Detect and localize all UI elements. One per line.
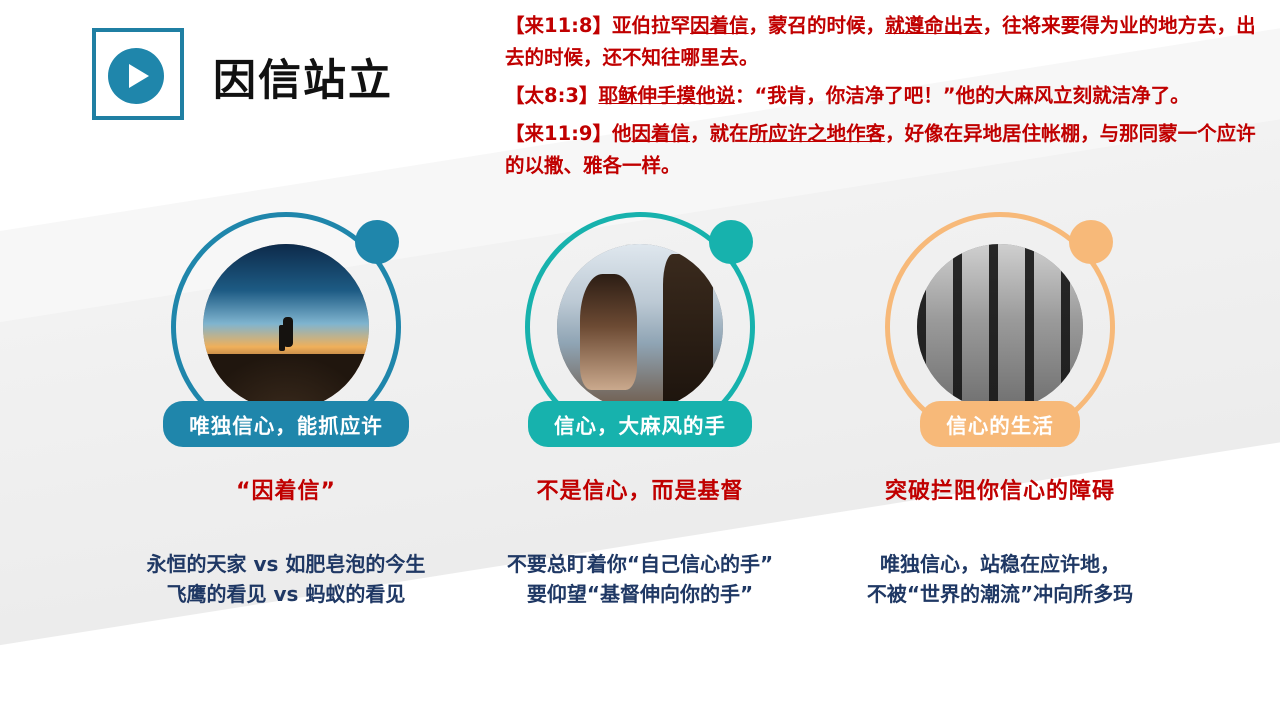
column-2-pill-row: 信心，大麻风的手 xyxy=(450,420,830,447)
verse-ref-2: 【太8:3】 xyxy=(505,84,598,107)
column-2-blue-line-2: 要仰望“基督伸向你的手” xyxy=(450,579,830,609)
column-2-pill-label: 信心，大麻风的手 xyxy=(528,401,752,447)
scripture-verse-2: 【太8:3】耶稣伸手摸他说：“我肯，你洁净了吧！”他的大麻风立刻就洁净了。 xyxy=(505,80,1273,112)
column-3-photo xyxy=(917,244,1083,410)
column-1-red-caption: “因着信” xyxy=(96,473,476,505)
column-3-blue-caption: 唯独信心，站稳在应许地， 不被“世界的潮流”冲向所多玛 xyxy=(810,549,1190,609)
page-title: 因信站立 xyxy=(213,46,393,108)
column-1-pill-row: 唯独信心，能抓应许 xyxy=(96,420,476,447)
scripture-verse-1: 【来11:8】亚伯拉罕因着信，蒙召的时候，就遵命出去，往将来要得为业的地方去，出… xyxy=(505,10,1273,74)
play-triangle-icon xyxy=(129,64,149,88)
verse-1-text-before: 亚伯拉罕 xyxy=(612,14,690,37)
verse-1-text-mid: ，蒙召的时候， xyxy=(749,14,886,37)
column-3: 信心的生活 突破拦阻你信心的障碍 唯独信心，站稳在应许地， 不被“世界的潮流”冲… xyxy=(810,212,1190,609)
column-2-red-caption: 不是信心，而是基督 xyxy=(450,473,830,505)
woman-reaching-to-hand-photo xyxy=(557,244,723,410)
play-button-icon xyxy=(108,48,164,104)
verse-3-text-mid: ，就在 xyxy=(690,122,749,145)
verse-1-underline-1: 因着信 xyxy=(690,14,749,37)
scripture-verse-3: 【来11:9】他因着信，就在所应许之地作客，好像在异地居住帐棚，与那同蒙一个应许… xyxy=(505,118,1273,182)
verse-ref-1: 【来11:8】 xyxy=(505,14,612,37)
column-2-photo xyxy=(557,244,723,410)
column-1-blue-line-2: 飞鹰的看见 vs 蚂蚁的看见 xyxy=(96,579,476,609)
column-1-blue-line-1: 永恒的天家 vs 如肥皂泡的今生 xyxy=(96,549,476,579)
column-2-blue-caption: 不要总盯着你“自己信心的手” 要仰望“基督伸向你的手” xyxy=(450,549,830,609)
column-1-pill-label: 唯独信心，能抓应许 xyxy=(163,401,409,447)
verse-3-underline-2: 所应许之地作客 xyxy=(749,122,886,145)
verse-3-text-before: 他 xyxy=(612,122,632,145)
verse-2-underline-1: 耶稣伸手摸他说 xyxy=(598,84,735,107)
column-1-photo xyxy=(203,244,369,410)
column-3-blue-line-2: 不被“世界的潮流”冲向所多玛 xyxy=(810,579,1190,609)
column-3-blue-line-1: 唯独信心，站稳在应许地， xyxy=(810,549,1190,579)
man-behind-bars-photo xyxy=(917,244,1083,410)
column-2-blue-line-1: 不要总盯着你“自己信心的手” xyxy=(450,549,830,579)
column-2: 信心，大麻风的手 不是信心，而是基督 不要总盯着你“自己信心的手” 要仰望“基督… xyxy=(450,212,830,609)
column-3-pill-label: 信心的生活 xyxy=(920,401,1080,447)
hiker-on-mountain-sunrise-photo xyxy=(203,244,369,410)
scripture-block: 【来11:8】亚伯拉罕因着信，蒙召的时候，就遵命出去，往将来要得为业的地方去，出… xyxy=(505,10,1273,188)
verse-ref-3: 【来11:9】 xyxy=(505,122,612,145)
verse-1-underline-2: 就遵命出去 xyxy=(885,14,983,37)
column-3-red-caption: 突破拦阻你信心的障碍 xyxy=(810,473,1190,505)
column-1-blue-caption: 永恒的天家 vs 如肥皂泡的今生 飞鹰的看见 vs 蚂蚁的看见 xyxy=(96,549,476,609)
column-3-pill-row: 信心的生活 xyxy=(810,420,1190,447)
verse-3-underline-1: 因着信 xyxy=(632,122,691,145)
verse-2-text-after: ：“我肯，你洁净了吧！”他的大麻风立刻就洁净了。 xyxy=(735,84,1190,107)
column-1: 唯独信心，能抓应许 “因着信” 永恒的天家 vs 如肥皂泡的今生 飞鹰的看见 v… xyxy=(96,212,476,609)
